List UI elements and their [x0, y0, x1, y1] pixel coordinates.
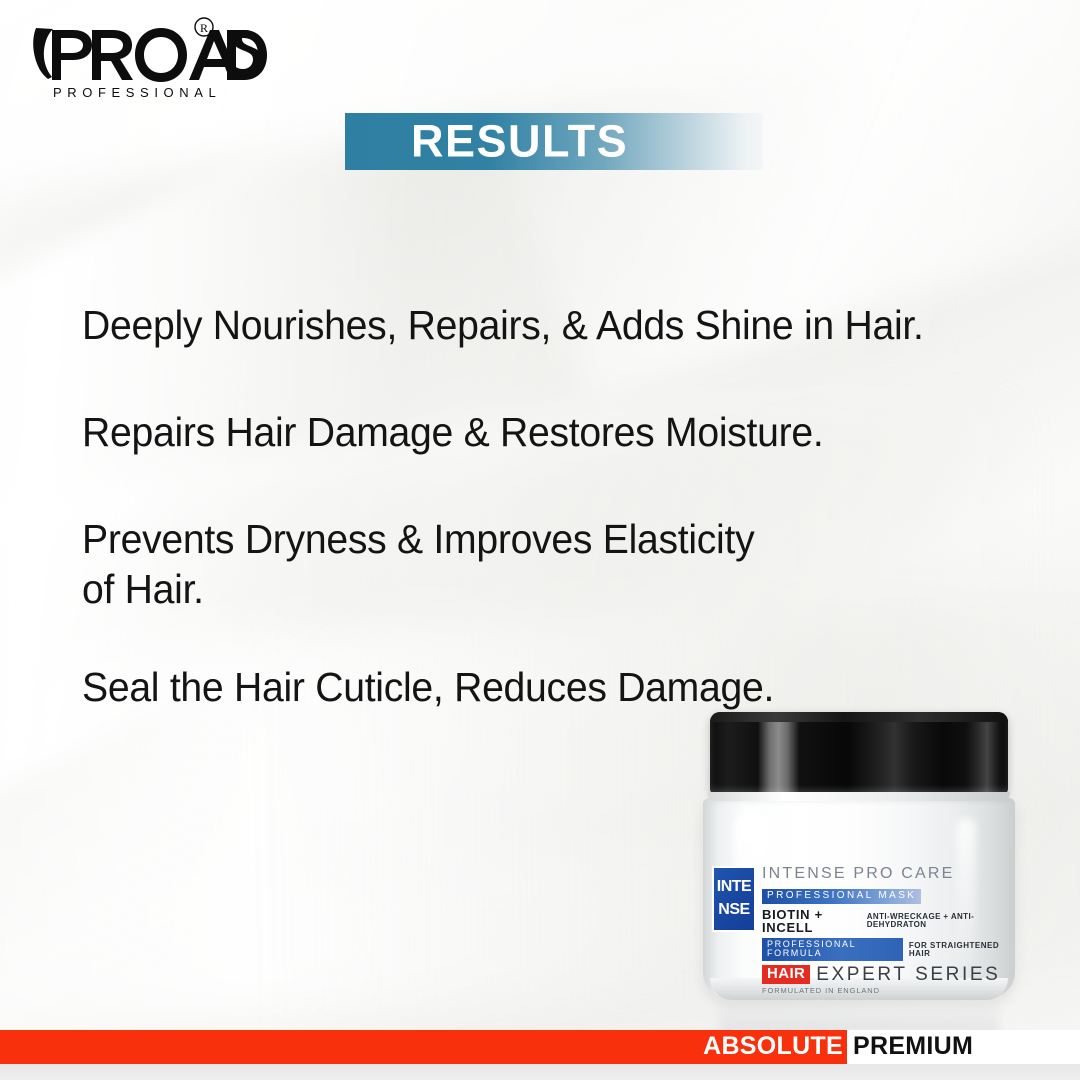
- product-formula-row: PROFESSIONAL FORMULA FOR STRAIGHTENED HA…: [762, 938, 1010, 961]
- poster-canvas: PROFESSIONAL R RESULTS Deeply Nourishes,…: [0, 0, 1080, 1080]
- registered-mark-icon: R: [195, 18, 213, 36]
- label-text-column: INTENSE PRO CARE PROFESSIONAL MASK BIOTI…: [762, 866, 1010, 995]
- product-formula-bar: PROFESSIONAL FORMULA: [762, 938, 903, 961]
- footer-premium-text: PREMIUM: [853, 1034, 973, 1059]
- jar-reflection: [720, 1000, 998, 1034]
- jar-lid-rim: [708, 792, 1010, 801]
- benefit-item-3: Prevents Dryness & Improves Elasticity o…: [82, 514, 1008, 614]
- product-jar: INTE NSE INTENSE PRO CARE PROFESSIONAL M…: [700, 706, 1018, 1006]
- benefit-item-4: Seal the Hair Cuticle, Reduces Damage.: [82, 662, 1008, 712]
- jar-lid: [710, 712, 1008, 794]
- svg-text:R: R: [200, 21, 208, 35]
- intense-badge: INTE NSE: [712, 866, 756, 932]
- footer-white-bar: PREMIUM: [847, 1030, 1080, 1064]
- logo-subtitle-text: PROFESSIONAL: [53, 85, 221, 100]
- product-category-badge: HAIR: [762, 965, 810, 984]
- results-title: RESULTS: [411, 118, 628, 163]
- product-formula-note: FOR STRAIGHTENED HAIR: [909, 942, 1010, 958]
- product-series: EXPERT SERIES: [816, 965, 1000, 984]
- footer-banner: ABSOLUTE PREMIUM: [0, 1030, 1080, 1064]
- product-origin: FORMULATED IN ENGLAND: [762, 987, 1010, 995]
- brand-logo: PROFESSIONAL R: [22, 14, 272, 100]
- jar-lid-top: [710, 712, 1008, 722]
- footer-absolute-text: ABSOLUTE: [703, 1034, 843, 1059]
- footer-red-bar: ABSOLUTE: [0, 1030, 847, 1064]
- product-label: INTE NSE INTENSE PRO CARE PROFESSIONAL M…: [710, 866, 1010, 970]
- product-title: INTENSE PRO CARE: [762, 866, 1010, 882]
- results-banner: RESULTS: [345, 113, 763, 170]
- footer-base-strip: [0, 1064, 1080, 1080]
- intense-badge-line2: NSE: [714, 902, 754, 918]
- product-series-row: HAIR EXPERT SERIES: [762, 965, 1010, 984]
- benefit-item-2: Repairs Hair Damage & Restores Moisture.: [82, 407, 1008, 457]
- product-actives-claims: ANTI-WRECKAGE + ANTI-DEHYDRATON: [867, 913, 1010, 929]
- intense-badge-line1: INTE: [714, 879, 754, 895]
- benefits-list: Deeply Nourishes, Repairs, & Adds Shine …: [82, 300, 1052, 712]
- benefit-item-1: Deeply Nourishes, Repairs, & Adds Shine …: [82, 300, 1008, 350]
- product-actives: BIOTIN + INCELL: [762, 908, 862, 934]
- product-actives-row: BIOTIN + INCELL ANTI-WRECKAGE + ANTI-DEH…: [762, 908, 1010, 934]
- product-subtitle-bar: PROFESSIONAL MASK: [762, 889, 921, 904]
